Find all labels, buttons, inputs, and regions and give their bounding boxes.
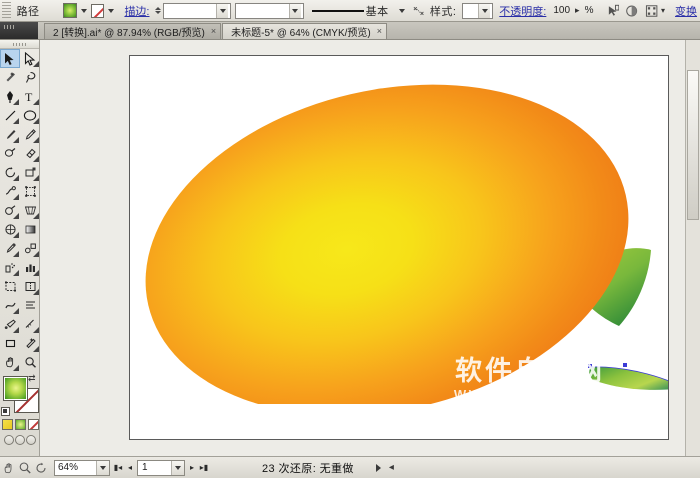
fill-swatch-large[interactable] — [3, 376, 28, 401]
fill-color-swatch[interactable] — [63, 3, 77, 18]
free-transform-tool[interactable] — [20, 182, 40, 201]
gradient-fill-button[interactable] — [15, 419, 26, 430]
status-bar-icon-group — [2, 461, 48, 475]
fill-chevron-down-icon[interactable] — [81, 9, 87, 13]
rotate-tool[interactable] — [0, 163, 20, 182]
type-tool[interactable]: T — [20, 87, 40, 106]
stroke-weight-input[interactable] — [163, 3, 232, 19]
perspective-grid-tool[interactable] — [20, 201, 40, 220]
tab-bar-grip[interactable] — [0, 22, 38, 39]
document-tab-0-label: 2 [转换].ai* @ 87.94% (RGB/预览) — [53, 24, 205, 39]
rectangle-tool[interactable] — [0, 334, 20, 353]
zoom-level-input[interactable]: 64% — [54, 460, 110, 476]
isolate-selected-icon[interactable] — [606, 4, 619, 18]
area-type-tool[interactable] — [20, 296, 40, 315]
lasso-tool[interactable] — [20, 68, 40, 87]
first-page-button[interactable]: ▮◂ — [112, 461, 124, 475]
mesh-tool[interactable] — [0, 220, 20, 239]
measure-tool[interactable] — [20, 315, 40, 334]
transform-link[interactable]: 变换 — [675, 3, 697, 19]
brush-definition-value: 基本 — [366, 3, 389, 19]
vertical-scrollbar[interactable] — [685, 40, 700, 456]
opacity-value[interactable]: 100 — [553, 5, 570, 16]
warp-tool[interactable] — [0, 296, 20, 315]
opacity-mask-icon[interactable] — [625, 4, 638, 18]
prev-page-button[interactable]: ◂ — [124, 461, 136, 475]
magic-eraser-tool[interactable] — [20, 334, 40, 353]
stroke-weight-label[interactable]: 描边: — [124, 3, 149, 19]
brush-chevron-down-icon[interactable] — [399, 9, 405, 13]
control-bar-grip[interactable] — [2, 2, 11, 20]
ellipse-tool[interactable] — [20, 106, 40, 125]
status-menu-arrow-icon[interactable] — [376, 464, 381, 472]
blend-tool[interactable] — [20, 239, 40, 258]
toolbox-grip[interactable] — [0, 40, 39, 49]
shape-builder-tool[interactable] — [0, 201, 20, 220]
eraser-tool[interactable] — [20, 144, 40, 163]
zoom-icon[interactable] — [18, 461, 32, 475]
opacity-chevron-right-icon[interactable]: ▸ — [575, 5, 580, 16]
eyedropper-tool[interactable] — [0, 239, 20, 258]
none-fill-button[interactable] — [28, 419, 39, 430]
close-icon[interactable]: × — [377, 27, 382, 36]
blimp-body — [129, 55, 662, 404]
next-page-button[interactable]: ▸ — [186, 461, 198, 475]
gradient-tool[interactable] — [20, 220, 40, 239]
undo-status-text: 23 次还原: 无重做 — [262, 460, 354, 476]
last-page-button[interactable]: ▸▮ — [198, 461, 210, 475]
scale-tool[interactable] — [20, 163, 40, 182]
hand-tool[interactable] — [0, 353, 20, 372]
control-bar-panel-label: 路径 — [17, 3, 40, 19]
toolbox-panel: T — [0, 40, 40, 456]
brush-stroke-preview — [312, 3, 364, 19]
blimp-artwork[interactable] — [129, 55, 669, 404]
style-label: 样式: — [430, 3, 457, 19]
color-fill-button[interactable] — [2, 419, 13, 430]
graphic-style-select[interactable] — [462, 3, 493, 19]
default-fill-stroke-icon[interactable] — [1, 407, 10, 416]
toolbox-tool-grid: T — [0, 49, 40, 372]
stroke-profile-select[interactable] — [235, 3, 304, 19]
artboard-chevron-down-icon[interactable] — [171, 461, 184, 475]
fill-mode-buttons — [0, 419, 40, 433]
status-bar: 64% ▮◂ ◂ 1 ▸ ▸▮ 23 次还原: 无重做 ◂ — [0, 456, 700, 478]
screen-mode-buttons — [0, 435, 40, 448]
opacity-label[interactable]: 不透明度: — [499, 3, 546, 19]
fill-stroke-swatch-group: ⇄ — [0, 374, 40, 418]
direct-selection-tool[interactable] — [20, 49, 40, 68]
vertical-scrollbar-thumb[interactable] — [687, 70, 699, 220]
document-tab-1-label: 未标题-5* @ 64% (CMYK/预览) — [231, 24, 371, 39]
tail-fin-side — [589, 367, 669, 390]
opacity-unit: % — [585, 5, 594, 16]
zoom-chevron-down-icon[interactable] — [96, 461, 109, 475]
svg-text:T: T — [25, 90, 33, 103]
align-chevron-down-icon[interactable]: ▾ — [661, 6, 665, 15]
screen-mode-menubar-button[interactable] — [15, 435, 25, 445]
style-chevron-down-icon[interactable] — [478, 4, 490, 18]
artboard-number-input[interactable]: 1 — [137, 460, 185, 476]
zoom-tool[interactable] — [20, 353, 40, 372]
stroke-profile-chevron-down-icon[interactable] — [289, 4, 301, 18]
slice-tool[interactable] — [20, 277, 40, 296]
line-segment-tool[interactable] — [0, 106, 20, 125]
status-resize-grip-icon[interactable]: ◂ — [389, 462, 394, 473]
isolate-icon[interactable] — [412, 4, 425, 18]
stroke-color-swatch[interactable] — [91, 4, 104, 18]
stroke-chevron-down-icon[interactable] — [108, 9, 114, 13]
close-icon[interactable]: × — [211, 27, 216, 36]
selection-tool[interactable] — [0, 49, 20, 68]
document-tab-1[interactable]: 未标题-5* @ 64% (CMYK/预览) × — [222, 23, 387, 39]
swap-fill-stroke-icon[interactable]: ⇄ — [28, 374, 38, 384]
pencil-tool[interactable] — [20, 125, 40, 144]
artboard-tool[interactable] — [0, 277, 20, 296]
blob-brush-tool[interactable] — [0, 144, 20, 163]
illustrator-window: 路径 描边: 基本 样式: — [0, 0, 700, 478]
document-area[interactable]: 软件自学网 WWW.RJZXW.COM — [40, 40, 700, 456]
document-tab-0[interactable]: 2 [转换].ai* @ 87.94% (RGB/预览) × — [44, 23, 221, 39]
align-icon[interactable] — [645, 4, 658, 18]
hand-icon[interactable] — [2, 461, 16, 475]
screen-mode-normal-button[interactable] — [4, 435, 14, 445]
paintbrush-tool[interactable] — [0, 125, 20, 144]
width-tool[interactable] — [0, 182, 20, 201]
symbol-sprayer-tool[interactable] — [0, 258, 20, 277]
control-bar: 路径 描边: 基本 样式: — [0, 0, 700, 22]
magic-wand-tool[interactable] — [0, 68, 20, 87]
live-paint-bucket-tool[interactable] — [0, 315, 20, 334]
pen-tool[interactable] — [0, 87, 20, 106]
stroke-weight-chevron-down-icon[interactable] — [216, 4, 228, 18]
stroke-weight-stepper-icon[interactable] — [155, 7, 161, 14]
rotate-view-icon[interactable] — [34, 461, 48, 475]
document-tab-bar: 2 [转换].ai* @ 87.94% (RGB/预览) × 未标题-5* @ … — [0, 22, 700, 40]
artboard-number-value: 1 — [142, 462, 148, 473]
zoom-level-value: 64% — [58, 462, 78, 473]
screen-mode-full-button[interactable] — [26, 435, 36, 445]
column-graph-tool[interactable] — [20, 258, 40, 277]
artboard[interactable]: 软件自学网 WWW.RJZXW.COM — [129, 55, 669, 440]
